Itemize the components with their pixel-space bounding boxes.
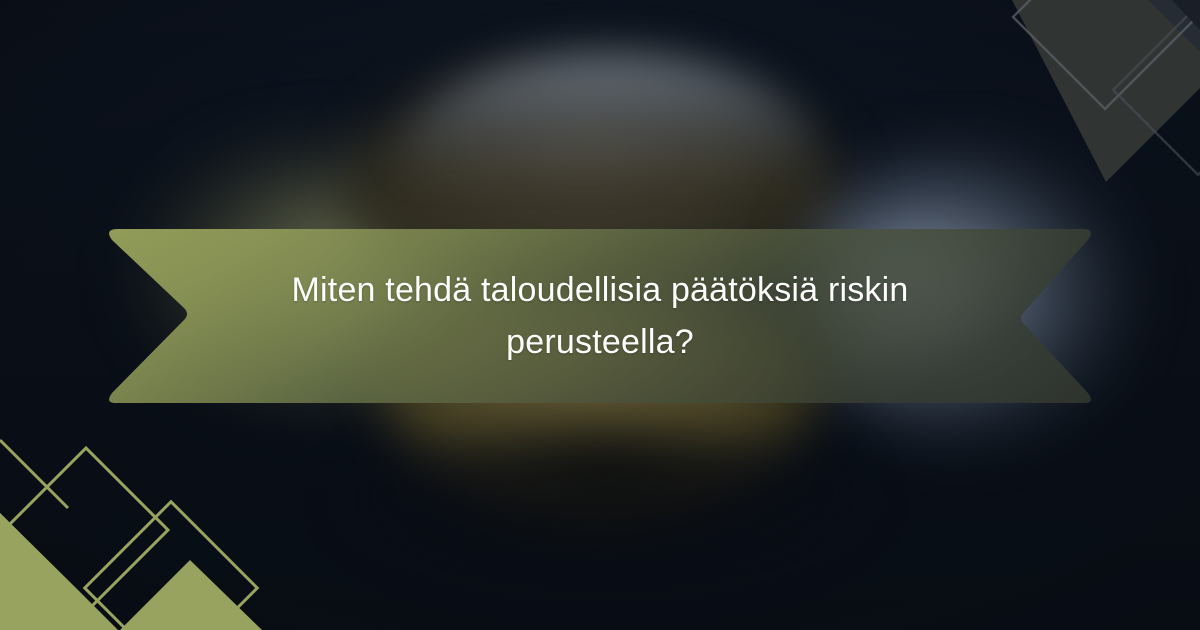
banner-title-line-1: Miten tehdä taloudellisia päätöksiä risk… bbox=[292, 264, 909, 316]
banner-title-line-2: perusteella? bbox=[506, 316, 694, 368]
banner-title: Miten tehdä taloudellisia päätöksiä risk… bbox=[104, 226, 1096, 406]
title-banner: Miten tehdä taloudellisia päätöksiä risk… bbox=[104, 226, 1096, 406]
share-card: Miten tehdä taloudellisia päätöksiä risk… bbox=[0, 0, 1200, 630]
